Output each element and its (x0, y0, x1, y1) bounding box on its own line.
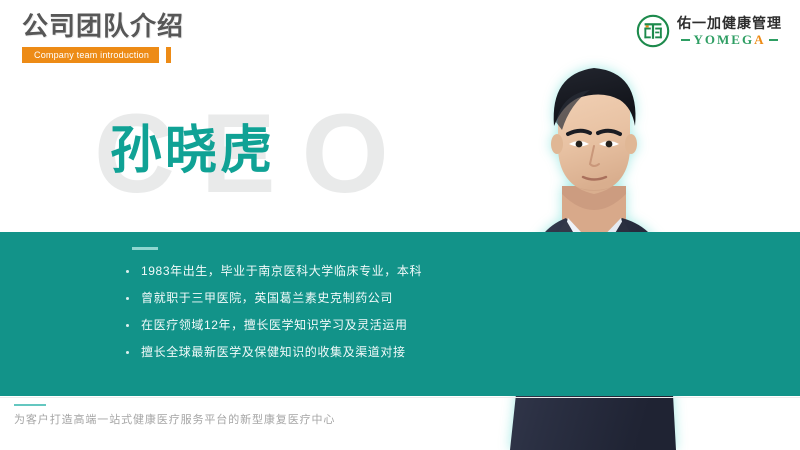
slide-footer: 为客户打造高端一站式健康医疗服务平台的新型康复医疗中心 (14, 404, 335, 428)
slide-canvas: 公司团队介绍 Company team introduction (0, 0, 800, 450)
bullet-dot-icon (126, 297, 129, 300)
subtitle-accent-block (166, 47, 171, 63)
profile-info-panel: 1983年出生，毕业于南京医科大学临床专业，本科 曾就职于三甲医院，英国葛兰素史… (0, 232, 800, 396)
list-item-label: 曾就职于三甲医院，英国葛兰素史克制药公司 (141, 289, 393, 307)
panel-accent-dash (132, 247, 158, 250)
title-block: 公司团队介绍 (22, 10, 184, 42)
logo-dash-right-icon (769, 39, 778, 41)
subtitle-bar: Company team introduction (22, 47, 159, 63)
footer-tagline: 为客户打造高端一站式健康医疗服务平台的新型康复医疗中心 (14, 413, 335, 428)
bullet-dot-icon (126, 351, 129, 354)
profile-bullet-list: 1983年出生，毕业于南京医科大学临床专业，本科 曾就职于三甲医院，英国葛兰素史… (126, 262, 556, 370)
footer-accent-dash (14, 404, 46, 406)
brand-name-en-accent: A (754, 32, 765, 47)
list-item: 曾就职于三甲医院，英国葛兰素史克制药公司 (126, 289, 556, 307)
footer-divider (0, 397, 800, 398)
subtitle-banner: Company team introduction (22, 47, 171, 63)
list-item-label: 在医疗领域12年，擅长医学知识学习及灵活运用 (141, 316, 408, 334)
list-item: 1983年出生，毕业于南京医科大学临床专业，本科 (126, 262, 556, 280)
bullet-dot-icon (126, 270, 129, 273)
list-item: 擅长全球最新医学及保健知识的收集及渠道对接 (126, 343, 556, 361)
list-item-label: 擅长全球最新医学及保健知识的收集及渠道对接 (141, 343, 406, 361)
bullet-dot-icon (126, 324, 129, 327)
person-name: 孙晓虎 (110, 120, 275, 182)
list-item-label: 1983年出生，毕业于南京医科大学临床专业，本科 (141, 262, 422, 280)
page-title: 公司团队介绍 (22, 10, 184, 42)
brand-name-cn: 佑一加健康管理 (677, 15, 782, 32)
list-item: 在医疗领域12年，擅长医学知识学习及灵活运用 (126, 316, 556, 334)
subtitle-label: Company team introduction (34, 47, 149, 63)
